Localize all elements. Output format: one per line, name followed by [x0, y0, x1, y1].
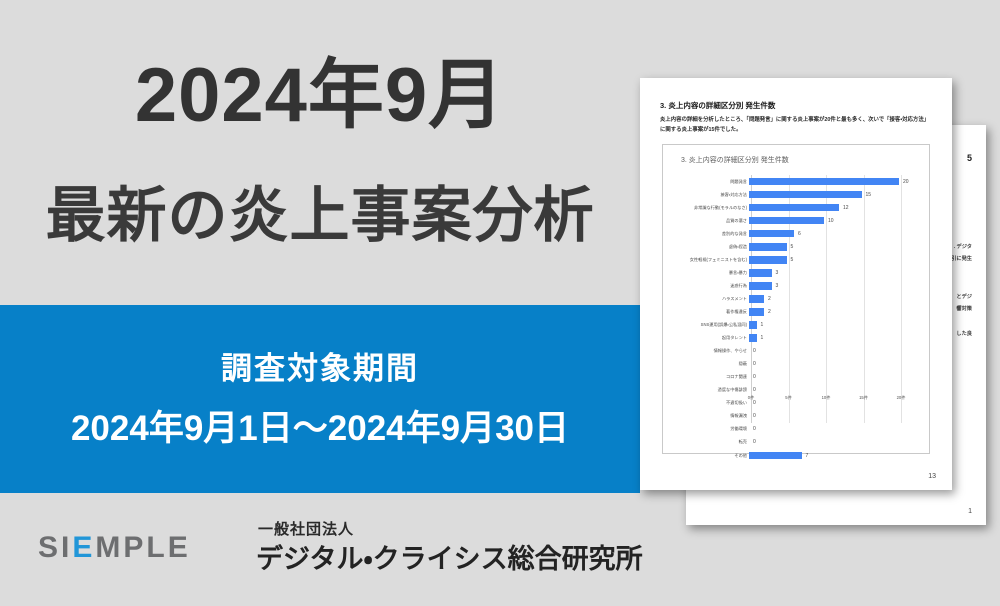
chart-bar-row: 接客・対応方法15 [663, 188, 931, 201]
chart-x-tick: 5件 [785, 395, 792, 401]
front-page-number: 13 [928, 473, 936, 480]
chart-bar-row: 非常識な行動(モラルのなさ)12 [663, 201, 931, 214]
chart-bar-label: 起用タレント [663, 335, 749, 341]
chart-bar [749, 295, 764, 303]
chart-bar-row: 著作権違反2 [663, 305, 931, 318]
logo-text-part1: SI [38, 531, 72, 564]
chart-bar-value: 1 [761, 322, 764, 328]
chart-bar-value: 3 [776, 283, 779, 289]
logo-text-accent: E [72, 531, 95, 564]
chart-bar-row: 品質の悪さ10 [663, 214, 931, 227]
chart-bar-row: 情報漏洩0 [663, 410, 931, 423]
chart-bar-label: 転売 [663, 439, 749, 445]
chart-bar [749, 230, 794, 238]
chart-bar-label: 女性軽視(フェミニストを含む) [663, 257, 749, 263]
chart-bar-value: 6 [798, 231, 801, 237]
chart-bar-value: 0 [753, 413, 756, 419]
back-page-fragment-3: とデジ [956, 293, 972, 300]
chart-bar-row: 情報操作、やらせ0 [663, 345, 931, 358]
slide-canvas: 2024年9月 最新の炎上事案分析 調査対象期間 2024年9月1日〜2024年… [0, 0, 1000, 606]
chart-x-tick: 0件 [748, 395, 755, 401]
chart-bar-label: 隠蔽 [663, 361, 749, 367]
chart-bar-row: その他7 [663, 449, 931, 462]
chart-x-tick: 10件 [822, 395, 831, 401]
chart-bar-value: 0 [753, 361, 756, 367]
chart-bar-row: 迷惑行為3 [663, 279, 931, 292]
logo-text-part2: MPLE [95, 531, 190, 564]
chart-bar-row: 労働環境0 [663, 423, 931, 436]
chart-bar [749, 269, 772, 277]
siemple-logo: SIEMPLE [38, 531, 191, 565]
chart-bar-label: 接客・対応方法 [663, 192, 749, 198]
chart-bar-value: 5 [791, 244, 794, 250]
chart-bar [749, 256, 787, 264]
chart-bar-value: 10 [828, 218, 834, 224]
chart-bar-rows: 問題発言20接客・対応方法15非常識な行動(モラルのなさ)12品質の悪さ10差別… [663, 175, 931, 423]
chart-bar-row: 虚偽・捏造5 [663, 240, 931, 253]
chart-bar [749, 178, 899, 186]
back-page-fragment-2: 引に発生 [951, 255, 972, 262]
back-page-heading: 5 [967, 153, 972, 163]
chart-bar-wrap: 6 [749, 227, 931, 240]
chart-bar [749, 217, 824, 225]
chart-bar-value: 15 [866, 192, 872, 198]
chart-bar-wrap: 5 [749, 240, 931, 253]
chart-bar-value: 2 [768, 296, 771, 302]
chart-bar [749, 243, 787, 251]
chart-x-axis: 0件5件10件15件20件 [751, 395, 901, 407]
chart-bar-value: 3 [776, 270, 779, 276]
chart-bar-label: 差別的な発言 [663, 231, 749, 237]
chart-title: 3. 炎上内容の詳細区分別 発生件数 [681, 155, 789, 165]
chart-bar [749, 204, 839, 212]
chart-bar [749, 308, 764, 316]
chart-bar-value: 0 [753, 426, 756, 432]
chart-bar-row: SNS運用(誤爆・公私混同)1 [663, 319, 931, 332]
chart-bar-wrap: 0 [749, 423, 931, 436]
chart-bar-wrap: 0 [749, 436, 931, 449]
chart-bar-value: 7 [806, 453, 809, 459]
chart-bar-wrap: 20 [749, 175, 931, 188]
chart-bar-label: 労働環境 [663, 426, 749, 432]
chart-bar-row: コロナ関連0 [663, 371, 931, 384]
chart-bar-wrap: 0 [749, 371, 931, 384]
chart-bar-label: 非常識な行動(モラルのなさ) [663, 205, 749, 211]
chart-bar-wrap: 2 [749, 305, 931, 318]
chart-bar [749, 452, 802, 460]
chart-bar-row: 隠蔽0 [663, 358, 931, 371]
chart-bar-label: 過度な中傷誹謗 [663, 387, 749, 393]
chart-bar-wrap: 7 [749, 449, 931, 462]
page-title: 2024年9月 [0, 56, 640, 136]
organization-prefix: 一般社団法人 [258, 518, 354, 539]
chart-bar-value: 5 [791, 257, 794, 263]
chart-bar-wrap: 12 [749, 201, 931, 214]
chart-bar-label: ハラスメント [663, 296, 749, 302]
chart-bar [749, 191, 862, 199]
chart-x-tick: 15件 [859, 395, 868, 401]
chart-bar-wrap: 3 [749, 279, 931, 292]
document-lede-text: 炎上内容の詳細を分析したところ、「問題発言」に関する炎上事案が20件と最も多く、… [660, 115, 934, 135]
chart-bar-row: 問題発言20 [663, 175, 931, 188]
chart-bar-row: ハラスメント2 [663, 292, 931, 305]
chart-bar-value: 2 [768, 309, 771, 315]
chart-bar-label: 情報漏洩 [663, 413, 749, 419]
chart-x-tick: 20件 [897, 395, 906, 401]
chart-bar-value: 0 [753, 439, 756, 445]
chart-bar-value: 20 [903, 179, 909, 185]
chart-bar-wrap: 0 [749, 410, 931, 423]
chart-bar-wrap: 5 [749, 253, 931, 266]
document-page-front: 3. 炎上内容の詳細区分別 発生件数 炎上内容の詳細を分析したところ、「問題発言… [640, 78, 952, 490]
chart-bar-row: 女性軽視(フェミニストを含む)5 [663, 253, 931, 266]
chart-bar-value: 1 [761, 335, 764, 341]
chart-bar-row: 暴言・暴力3 [663, 266, 931, 279]
chart-bar-wrap: 15 [749, 188, 931, 201]
chart-bar-row: 転売0 [663, 436, 931, 449]
survey-period-value: 2024年9月1日〜2024年9月30日 [0, 400, 640, 451]
chart-bar-wrap: 2 [749, 292, 931, 305]
chart-bar-row: 起用タレント1 [663, 332, 931, 345]
chart-bar-label: コロナ関連 [663, 374, 749, 380]
chart-bar-value: 0 [753, 348, 756, 354]
chart-bar-value: 0 [753, 374, 756, 380]
chart-bar-label: 問題発言 [663, 179, 749, 185]
back-page-fragment-4: 響対策 [956, 305, 972, 312]
survey-period-label: 調査対象期間 [0, 343, 640, 388]
chart-container: 3. 炎上内容の詳細区分別 発生件数 問題発言20接客・対応方法15非常識な行動… [662, 144, 930, 454]
chart-bar [749, 282, 772, 290]
chart-bar-label: 不適切扱い [663, 400, 749, 406]
survey-period-band: 調査対象期間 2024年9月1日〜2024年9月30日 [0, 305, 640, 493]
chart-bar-label: 暴言・暴力 [663, 270, 749, 276]
chart-bar-wrap: 0 [749, 358, 931, 371]
chart-bar-wrap: 3 [749, 266, 931, 279]
chart-bar-label: 情報操作、やらせ [663, 348, 749, 354]
chart-bar-label: 迷惑行為 [663, 283, 749, 289]
chart-bar-wrap: 10 [749, 214, 931, 227]
back-page-number: 1 [968, 508, 972, 515]
chart-bar-wrap: 1 [749, 319, 931, 332]
chart-bar-wrap: 0 [749, 345, 931, 358]
page-subtitle: 最新の炎上事案分析 [0, 183, 640, 249]
chart-bar [749, 334, 757, 342]
chart-bar-label: SNS運用(誤爆・公私混同) [663, 322, 749, 328]
chart-bar-value: 12 [843, 205, 849, 211]
chart-bar-value: 0 [753, 387, 756, 393]
chart-bar-label: 品質の悪さ [663, 218, 749, 224]
back-page-fragment-5: した良 [956, 330, 972, 337]
chart-bar-wrap: 1 [749, 332, 931, 345]
organization-name: デジタル・クライシス総合研究所 [256, 537, 643, 576]
document-section-heading: 3. 炎上内容の詳細区分別 発生件数 [660, 100, 775, 111]
chart-bar-row: 差別的な発言6 [663, 227, 931, 240]
chart-bar [749, 321, 757, 329]
chart-bar-label: 虚偽・捏造 [663, 244, 749, 250]
back-page-fragment-1: . デジタ [954, 243, 972, 250]
chart-bar-label: 著作権違反 [663, 309, 749, 315]
chart-bar-label: その他 [663, 453, 749, 459]
